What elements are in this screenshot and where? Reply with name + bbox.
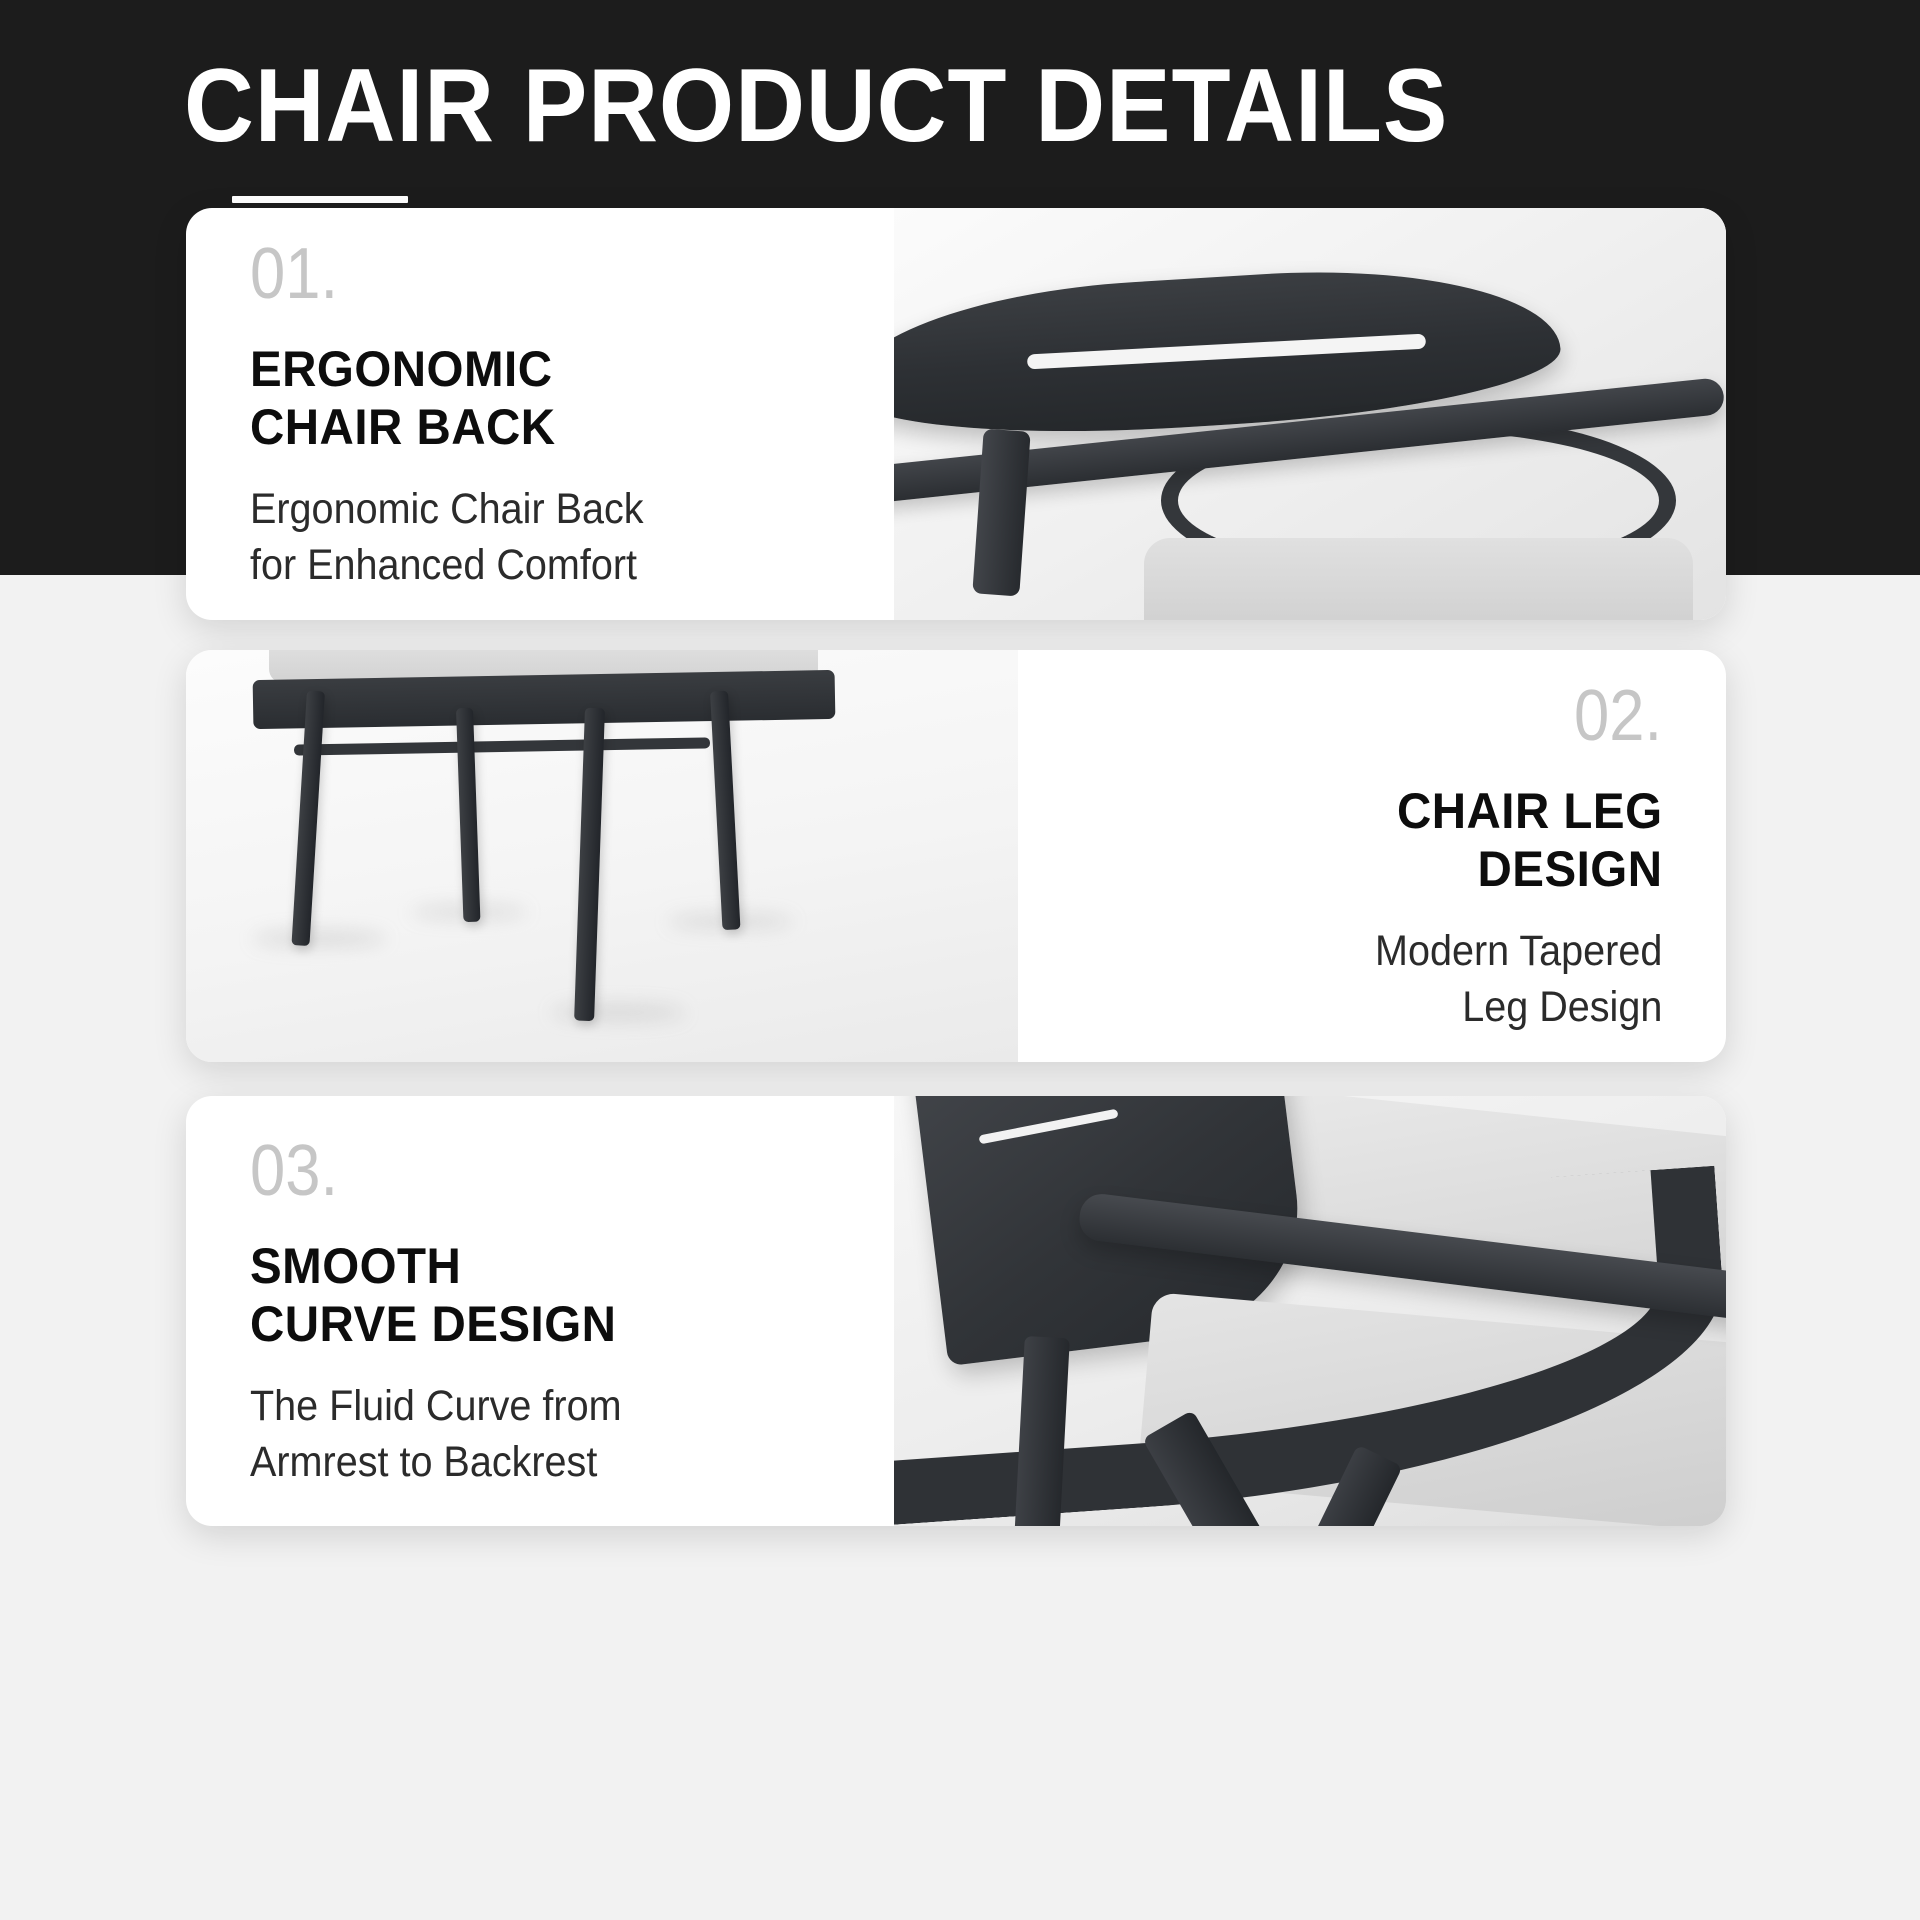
seat-cushion: [1144, 538, 1693, 620]
floor-shadow: [253, 930, 386, 946]
card-3-text-pane: 03. SMOOTH CURVE DESIGN The Fluid Curve …: [186, 1096, 894, 1526]
chair-back-closeup-photo: [894, 208, 1726, 620]
chair-legs-photo: [186, 650, 1018, 1062]
card-1-number: 01.: [250, 238, 768, 310]
detail-card-3[interactable]: 03. SMOOTH CURVE DESIGN The Fluid Curve …: [186, 1096, 1726, 1526]
floor-shadow: [552, 1004, 685, 1020]
card-1-description: Ergonomic Chair Back for Enhanced Comfor…: [250, 482, 791, 594]
card-1-heading: ERGONOMIC CHAIR BACK: [250, 340, 809, 456]
detail-card-2[interactable]: 02. CHAIR LEG DESIGN Modern Tapered Leg …: [186, 650, 1726, 1062]
page-title: CHAIR PRODUCT DETAILS: [184, 52, 1448, 161]
card-3-heading: SMOOTH CURVE DESIGN: [250, 1237, 809, 1353]
detail-card-1[interactable]: 01. ERGONOMIC CHAIR BACK Ergonomic Chair…: [186, 208, 1726, 620]
card-2-heading: CHAIR LEG DESIGN: [1396, 782, 1662, 898]
seat-frame-bar: [252, 670, 835, 730]
card-3-number: 03.: [250, 1135, 768, 1207]
card-2-description: Modern Tapered Leg Design: [1375, 924, 1662, 1036]
armrest-curve-closeup-photo: [894, 1096, 1726, 1526]
card-1-text-pane: 01. ERGONOMIC CHAIR BACK Ergonomic Chair…: [186, 208, 894, 620]
title-underline-rule: [232, 196, 408, 203]
card-3-description: The Fluid Curve from Armrest to Backrest: [250, 1379, 791, 1491]
card-2-text-pane: 02. CHAIR LEG DESIGN Modern Tapered Leg …: [1018, 650, 1726, 1062]
card-2-number: 02.: [1574, 680, 1662, 752]
